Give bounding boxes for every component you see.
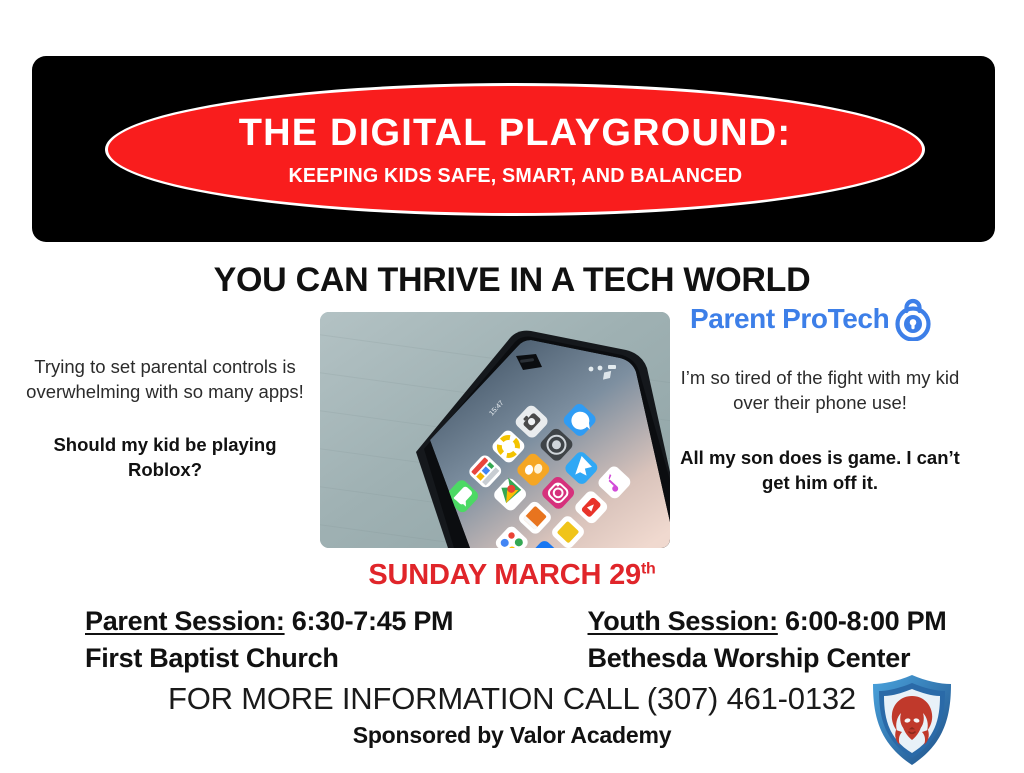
quote-right-plain: I’m so tired of the fight with my kid ov… (676, 366, 964, 416)
headline: YOU CAN THRIVE IN A TECH WORLD (0, 261, 1024, 300)
session-parent-time: 6:30-7:45 PM (285, 606, 454, 636)
title-ellipse: THE DIGITAL PLAYGROUND: KEEPING KIDS SAF… (105, 83, 925, 216)
event-date-suffix: th (641, 560, 656, 577)
session-youth-time: 6:00-8:00 PM (778, 606, 947, 636)
sessions: Parent Session: 6:30-7:45 PM First Bapti… (0, 603, 1024, 678)
phone-photo: 15:47 (320, 312, 670, 548)
session-youth-venue: Bethesda Worship Center (588, 640, 1024, 677)
quote-left-plain: Trying to set parental controls is overw… (18, 355, 312, 405)
page-subtitle: KEEPING KIDS SAFE, SMART, AND BALANCED (288, 166, 742, 187)
session-parent-label: Parent Session: (85, 606, 285, 636)
session-youth: Youth Session: 6:00-8:00 PM Bethesda Wor… (522, 603, 1024, 678)
session-parent-venue: First Baptist Church (85, 640, 522, 677)
parent-protech-wordmark: Parent ProTech (690, 305, 889, 333)
session-parent-time-line: Parent Session: 6:30-7:45 PM (85, 603, 522, 640)
quote-left-bold: Should my kid be playing Roblox? (18, 433, 312, 483)
session-youth-time-line: Youth Session: 6:00-8:00 PM (588, 603, 1024, 640)
page-title: THE DIGITAL PLAYGROUND: (239, 114, 792, 152)
quote-left: Trying to set parental controls is overw… (18, 355, 312, 483)
session-parent: Parent Session: 6:30-7:45 PM First Bapti… (0, 603, 522, 678)
quote-right: I’m so tired of the fight with my kid ov… (676, 366, 964, 496)
event-date-main: SUNDAY MARCH 29 (368, 559, 641, 591)
event-date: SUNDAY MARCH 29th (0, 559, 1024, 592)
parent-protech-logo: Parent ProTech (690, 297, 933, 341)
header-banner: THE DIGITAL PLAYGROUND: KEEPING KIDS SAF… (32, 56, 995, 242)
quote-right-bold: All my son does is game. I can’t get him… (676, 446, 964, 496)
lion-shield-icon (866, 672, 958, 773)
session-youth-label: Youth Session: (588, 606, 778, 636)
padlock-circle-icon (893, 297, 933, 341)
